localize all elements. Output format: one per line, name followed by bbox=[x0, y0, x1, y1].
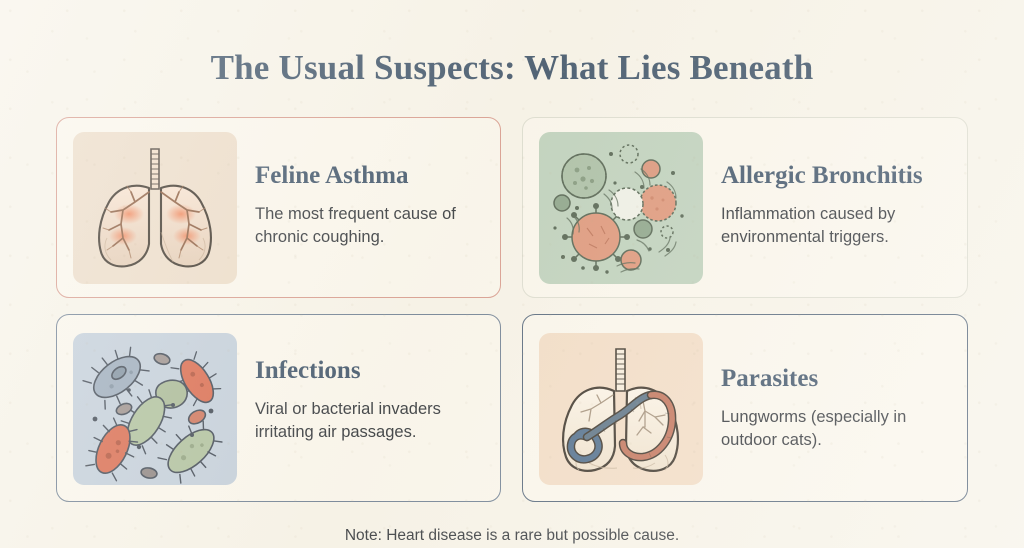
inflamed-lungs-illustration bbox=[73, 132, 237, 284]
page-title: The Usual Suspects: What Lies Beneath bbox=[0, 48, 1024, 88]
card-heading: Parasites bbox=[721, 365, 955, 393]
card-heading: Infections bbox=[255, 357, 488, 385]
lungworm-in-lungs-illustration bbox=[539, 333, 703, 485]
card-infections[interactable]: Infections Viral or bacterial invaders i… bbox=[56, 314, 501, 502]
card-feline-asthma[interactable]: Feline Asthma The most frequent cause of… bbox=[56, 117, 501, 298]
card-text-block: Infections Viral or bacterial invaders i… bbox=[255, 357, 488, 444]
card-parasites[interactable]: Parasites Lungworms (especially in outdo… bbox=[522, 314, 968, 502]
card-body: Lungworms (especially in outdoor cats). bbox=[721, 406, 955, 453]
card-heading: Feline Asthma bbox=[255, 162, 488, 190]
card-text-block: Feline Asthma The most frequent cause of… bbox=[255, 162, 488, 249]
pollen-allergen-particles-illustration bbox=[539, 132, 703, 284]
card-allergic-bronchitis[interactable]: Allergic Bronchitis Inflammation caused … bbox=[522, 117, 968, 298]
cards-grid: Feline Asthma The most frequent cause of… bbox=[56, 117, 968, 502]
card-text-block: Allergic Bronchitis Inflammation caused … bbox=[721, 162, 955, 249]
card-heading: Allergic Bronchitis bbox=[721, 162, 955, 190]
card-text-block: Parasites Lungworms (especially in outdo… bbox=[721, 365, 955, 452]
card-body: Viral or bacterial invaders irritating a… bbox=[255, 398, 488, 445]
bacteria-microbes-illustration bbox=[73, 333, 237, 485]
footer-note: Note: Heart disease is a rare but possib… bbox=[0, 527, 1024, 545]
card-body: Inflammation caused by environmental tri… bbox=[721, 203, 955, 250]
card-body: The most frequent cause of chronic cough… bbox=[255, 203, 488, 250]
